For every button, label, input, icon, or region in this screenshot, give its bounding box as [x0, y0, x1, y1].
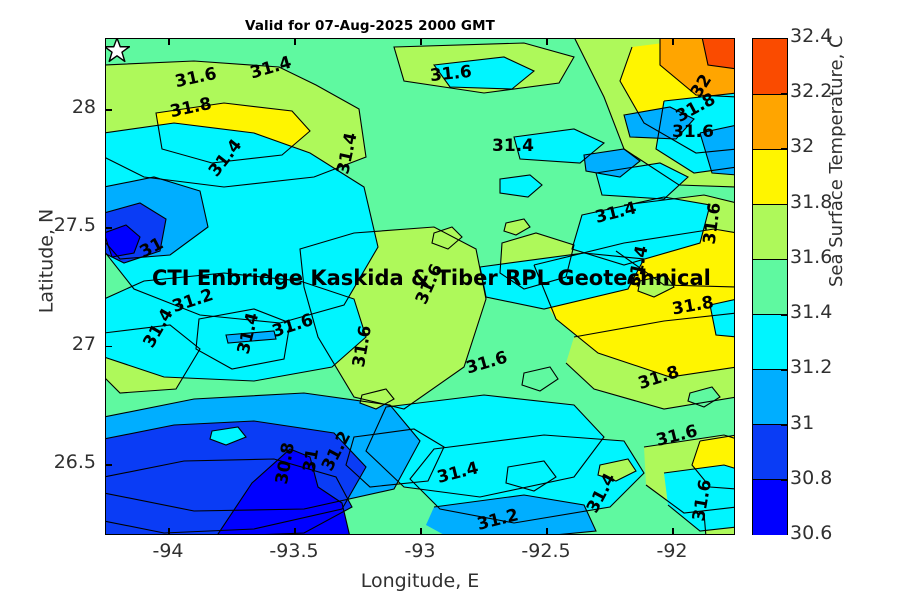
- y-tick-label: 27.5: [28, 214, 96, 236]
- colorbar-band: [753, 149, 787, 205]
- colorbar-band: [753, 369, 787, 425]
- site-label: CTI Enbridge Kaskida & Tiber RPL Geotech…: [152, 268, 711, 289]
- colorbar-band: [753, 479, 787, 535]
- y-tick-mark: [105, 464, 112, 466]
- colorbar-tick-label: 31.2: [790, 356, 832, 378]
- x-tick-mark: [420, 38, 422, 45]
- colorbar-tick-mark: [781, 425, 788, 426]
- colorbar-tick-mark: [781, 148, 788, 149]
- colorbar-band: [753, 204, 787, 260]
- x-tick-mark: [546, 38, 548, 45]
- colorbar-tick-mark: [781, 480, 788, 481]
- colorbar-tick-label: 30.8: [790, 467, 832, 489]
- x-axis-label: Longitude, E: [105, 570, 735, 592]
- colorbar-tick-mark: [781, 93, 788, 94]
- x-tick-mark: [294, 528, 296, 535]
- x-tick-mark: [420, 528, 422, 535]
- star-marker: [105, 38, 130, 63]
- x-tick-label: -93: [380, 540, 460, 562]
- colorbar-band: [753, 94, 787, 150]
- contour-label: 31.6: [672, 124, 714, 141]
- colorbar-band: [753, 39, 787, 94]
- y-tick-label: 27: [28, 333, 96, 355]
- x-tick-mark: [672, 528, 674, 535]
- x-tick-mark: [168, 528, 170, 535]
- y-tick-mark: [105, 109, 112, 111]
- y-tick-label: 28: [28, 96, 96, 118]
- x-tick-label: -94: [128, 540, 208, 562]
- colorbar-band: [753, 424, 787, 480]
- x-tick-label: -92.5: [506, 540, 586, 562]
- y-tick-mark: [105, 346, 112, 348]
- x-tick-mark: [672, 38, 674, 45]
- colorbar-tick-mark: [781, 204, 788, 205]
- y-tick-label: 26.5: [28, 451, 96, 473]
- colorbar-band: [753, 259, 787, 315]
- contour-label: 31.6: [429, 64, 473, 85]
- x-tick-mark: [168, 38, 170, 45]
- colorbar-tick-label: 31: [790, 412, 814, 434]
- colorbar-title: Sea Surface Temperature, C: [826, 35, 847, 287]
- x-tick-label: -92: [632, 540, 712, 562]
- figure-title: Valid for 07-Aug-2025 2000 GMT: [0, 18, 740, 34]
- colorbar-tick-mark: [781, 314, 788, 315]
- colorbar-band: [753, 314, 787, 370]
- colorbar-tick-label: 31.4: [790, 301, 832, 323]
- colorbar-tick-mark: [781, 259, 788, 260]
- contour-label: 31.4: [492, 138, 534, 155]
- sst-contour-figure: Valid for 07-Aug-2025 2000 GMT: [0, 0, 900, 600]
- x-tick-mark: [294, 38, 296, 45]
- colorbar-tick-label: 30.6: [790, 522, 832, 544]
- x-tick-mark: [546, 528, 548, 535]
- colorbar-tick-mark: [781, 369, 788, 370]
- colorbar: [752, 38, 788, 535]
- y-tick-mark: [105, 227, 112, 229]
- colorbar-tick-label: 32: [790, 135, 814, 157]
- x-tick-label: -93.5: [254, 540, 334, 562]
